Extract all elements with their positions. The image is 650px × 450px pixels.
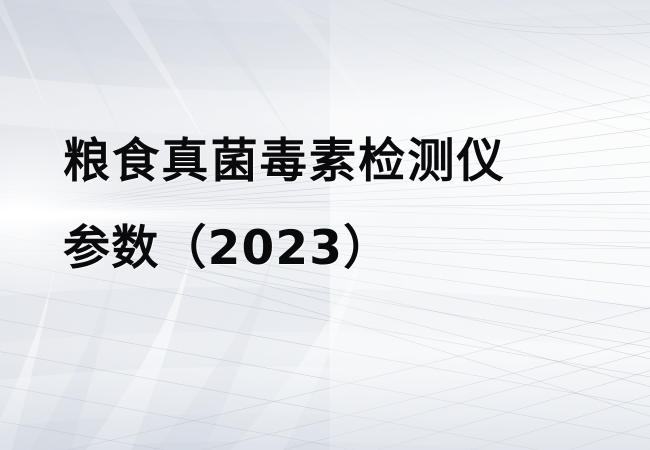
title-line-1: 粮食真菌毒素检测仪 bbox=[63, 138, 623, 185]
title-line-2: 参数（2023） bbox=[63, 225, 623, 272]
title-banner: 粮食真菌毒素检测仪 参数（2023） bbox=[0, 0, 650, 450]
banner-title: 粮食真菌毒素检测仪 参数（2023） bbox=[63, 138, 623, 272]
